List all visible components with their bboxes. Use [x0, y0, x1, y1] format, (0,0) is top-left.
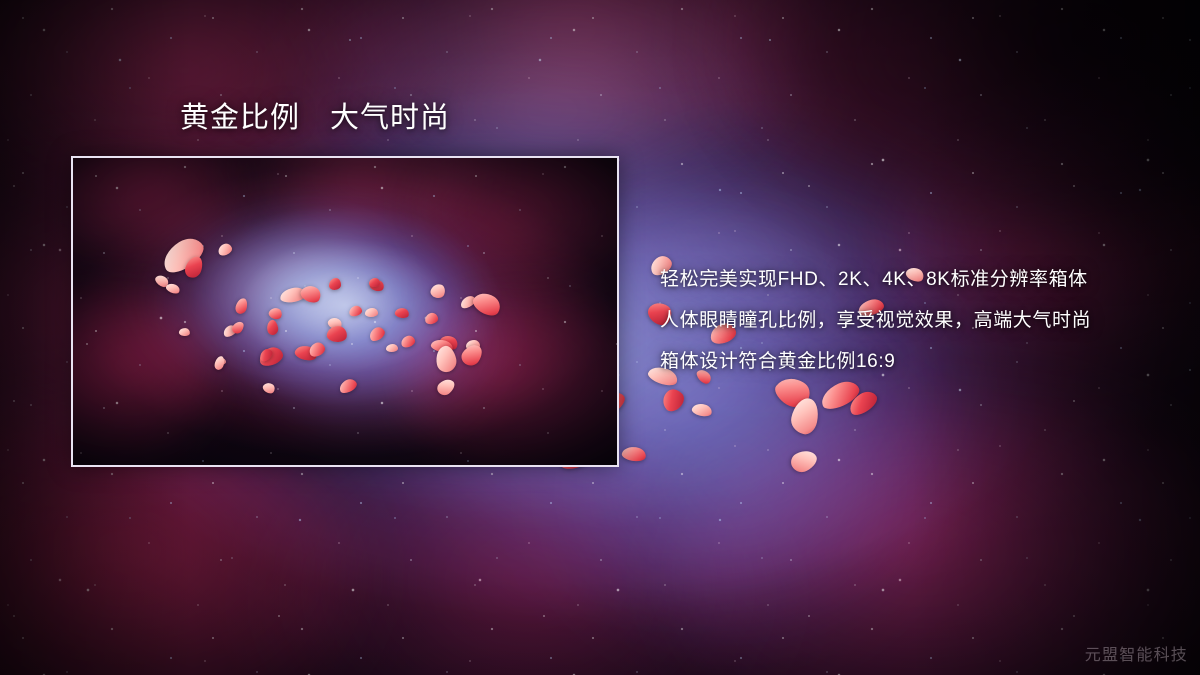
description-line-2: 人体眼睛瞳孔比例，享受视觉效果，高端大气时尚	[660, 300, 1160, 341]
page-title: 黄金比例 大气时尚	[180, 101, 450, 136]
framed-product-image[interactable]	[71, 156, 619, 467]
description-line-1: 轻松完美实现FHD、2K、4K、8K标准分辨率箱体	[660, 259, 1160, 300]
description-line-3: 箱体设计符合黄金比例16:9	[660, 341, 1160, 382]
presentation-slide: 黄金比例 大气时尚 轻松完美实现FHD、2K、4K、8K标准分辨率箱体 人体眼睛…	[0, 0, 1200, 675]
photo-vignette	[73, 158, 617, 465]
nebula-photo	[73, 158, 617, 465]
description-text-block: 轻松完美实现FHD、2K、4K、8K标准分辨率箱体 人体眼睛瞳孔比例，享受视觉效…	[660, 259, 1160, 382]
watermark-company-name: 元盟智能科技	[1085, 641, 1188, 665]
